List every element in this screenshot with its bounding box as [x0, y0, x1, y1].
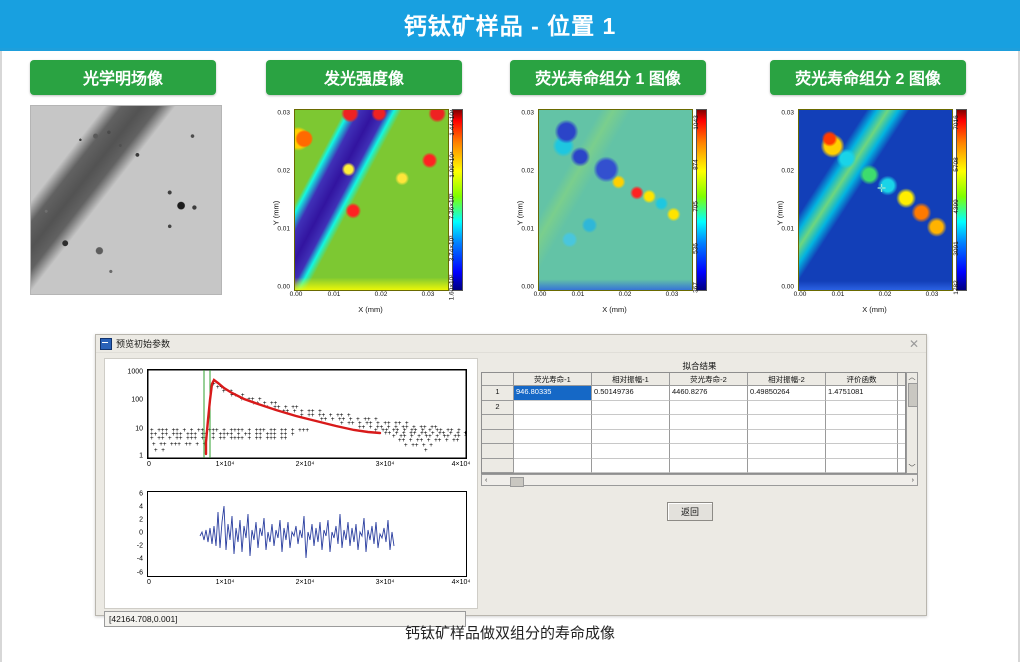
cell-cost-function[interactable]: 1.4751081	[826, 386, 898, 401]
decay-ytick-100: 100	[109, 397, 143, 404]
panel-label-intensity: 发光强度像	[266, 60, 462, 95]
preview-parameters-dialog: 预览初始参数 ✕ + +++ ++ + +	[95, 334, 927, 616]
cell-amplitude-2[interactable]	[748, 459, 826, 474]
cell-amplitude-1[interactable]	[592, 459, 670, 474]
column-header-extra[interactable]	[898, 373, 905, 386]
resid-ytick-m4: -4	[109, 556, 143, 563]
cell-lifetime-1[interactable]	[514, 444, 592, 459]
cell-lifetime-1[interactable]: 946.80335	[514, 386, 592, 401]
optical-brightfield-image	[30, 105, 222, 295]
decay-plot-svg: + +++ ++ + + ++ +++ + ++++ + +++ ++ ++ +…	[148, 370, 466, 458]
cell-amplitude-1[interactable]	[592, 430, 670, 445]
decay-ytick-1: 1	[109, 453, 143, 460]
lifetime2-x-ticks: 0.00 0.01 0.02 0.03	[798, 290, 951, 302]
figure-caption: 钙钛矿样品做双组分的寿命成像	[0, 622, 1020, 643]
fit-results-area: 拟合结果 荧光寿命-1 相对振幅-1 荧光寿命-2 相对振幅-2 评价函数 1 …	[481, 358, 918, 607]
resid-xtick-1e4: 1×10⁴	[216, 579, 235, 586]
row-index	[482, 430, 514, 445]
panel-label-lifetime-2: 荧光寿命组分 2 图像	[770, 60, 966, 95]
panel-emission-intensity: 发光强度像 Y (mm) 0.03 0.02 0.01 0.00 0.00 0.…	[266, 60, 462, 320]
lifetime2-map-box: Y (mm) 0.03 0.02 0.01 0.00 ✛ 0.00 0.01 0…	[770, 105, 966, 320]
lifetime2-x-axis-title: X (mm)	[798, 305, 951, 314]
resid-xtick-3e4: 3×10⁴	[376, 579, 395, 586]
resid-ytick-4: 4	[109, 504, 143, 511]
cell-extra[interactable]	[898, 415, 905, 430]
horizontal-scroll-thumb[interactable]	[510, 477, 524, 487]
cell-lifetime-1[interactable]	[514, 459, 592, 474]
vertical-scroll-thumb[interactable]	[908, 383, 918, 407]
cell-extra[interactable]	[898, 386, 905, 401]
panel-label-lifetime-1: 荧光寿命组分 1 图像	[510, 60, 706, 95]
row-index	[482, 459, 514, 474]
table-row[interactable]: 1 946.80335 0.50149736 4460.8276 0.49850…	[482, 386, 905, 401]
lifetime2-y-ticks: 0.03 0.02 0.01 0.00	[774, 109, 796, 289]
fit-results-title: 拟合结果	[481, 360, 918, 372]
resid-ytick-6: 6	[109, 491, 143, 498]
window-icon	[100, 338, 112, 350]
resid-ytick-0: 0	[109, 530, 143, 537]
decay-xtick-1e4: 1×10⁴	[216, 461, 235, 468]
resid-ytick-2: 2	[109, 517, 143, 524]
svg-text:+ +: + +	[154, 447, 165, 454]
resid-xtick-4e4: 4×10⁴	[452, 579, 471, 586]
table-row[interactable]: 2	[482, 401, 905, 416]
decay-plot: + +++ ++ + + ++ +++ + ++++ + +++ ++ ++ +…	[105, 363, 477, 483]
decay-ytick-1000: 1000	[109, 369, 143, 376]
svg-text:+: +	[424, 447, 428, 454]
image-panel-row: 光学明场像 发光强度像 Y (mm) 0.03 0.02 0.01 0.00 0…	[0, 60, 1020, 330]
page-title: 钙钛矿样品 - 位置 1	[404, 7, 617, 41]
scroll-right-icon[interactable]: ›	[912, 476, 914, 485]
table-row[interactable]	[482, 459, 905, 474]
optical-image-box	[30, 105, 216, 295]
fit-results-table[interactable]: 荧光寿命-1 相对振幅-1 荧光寿命-2 相对振幅-2 评价函数 1 946.8…	[481, 372, 906, 474]
cell-cost-function[interactable]	[826, 415, 898, 430]
cell-amplitude-2[interactable]: 0.49850264	[748, 386, 826, 401]
cell-lifetime-2[interactable]	[670, 401, 748, 416]
cell-amplitude-2[interactable]	[748, 415, 826, 430]
cell-amplitude-2[interactable]	[748, 401, 826, 416]
cell-amplitude-2[interactable]	[748, 430, 826, 445]
back-button[interactable]: 返回	[667, 502, 713, 521]
decay-ytick-10: 10	[109, 426, 143, 433]
cell-cost-function[interactable]	[826, 430, 898, 445]
column-header-amplitude-2[interactable]: 相对振幅-2	[748, 373, 826, 386]
cell-cost-function[interactable]	[826, 459, 898, 474]
scroll-left-icon[interactable]: ‹	[485, 476, 487, 485]
column-header-amplitude-1[interactable]: 相对振幅-1	[592, 373, 670, 386]
resid-ytick-m6: -6	[109, 570, 143, 577]
cell-amplitude-1[interactable]: 0.50149736	[592, 386, 670, 401]
close-icon[interactable]: ✕	[906, 338, 922, 350]
panel-optical-brightfield: 光学明场像	[30, 60, 216, 295]
svg-text:+ ++ + +: + ++ + +	[404, 442, 433, 449]
cell-lifetime-1[interactable]	[514, 401, 592, 416]
crosshair-marker-icon: ✛	[877, 184, 886, 195]
row-index: 2	[482, 401, 514, 416]
panel-label-optical: 光学明场像	[30, 60, 216, 95]
dialog-title-bar[interactable]: 预览初始参数 ✕	[96, 335, 926, 353]
panel-lifetime-component-2: 荧光寿命组分 2 图像 Y (mm) 0.03 0.02 0.01 0.00 ✛…	[770, 60, 966, 320]
column-header-lifetime-2[interactable]: 荧光寿命-2	[670, 373, 748, 386]
resid-xtick-2e4: 2×10⁴	[296, 579, 315, 586]
table-horizontal-scrollbar[interactable]: ‹ ›	[481, 474, 918, 486]
scroll-up-icon[interactable]: ︿	[909, 373, 916, 382]
decay-xtick-2e4: 2×10⁴	[296, 461, 315, 468]
intensity-y-ticks: 0.03 0.02 0.01 0.00	[270, 109, 292, 289]
lifetime1-x-ticks: 0.00 0.01 0.02 0.03	[538, 290, 691, 302]
cell-extra[interactable]	[898, 430, 905, 445]
fit-plots-card: + +++ ++ + + ++ +++ + ++++ + +++ ++ ++ +…	[104, 358, 478, 609]
table-header-row: 荧光寿命-1 相对振幅-1 荧光寿命-2 相对振幅-2 评价函数	[482, 373, 905, 386]
decay-plot-frame: + +++ ++ + + ++ +++ + ++++ + +++ ++ ++ +…	[147, 369, 467, 459]
lifetime2-colorbar-ticks: 7016 5708 4399 3091 1782	[920, 109, 956, 289]
table-row[interactable]	[482, 415, 905, 430]
cell-amplitude-1[interactable]	[592, 401, 670, 416]
cell-extra[interactable]	[898, 401, 905, 416]
title-underline	[0, 48, 1020, 51]
cell-amplitude-1[interactable]	[592, 415, 670, 430]
intensity-map-box: Y (mm) 0.03 0.02 0.01 0.00 0.00 0.01 0.0…	[266, 105, 462, 320]
cell-extra[interactable]	[898, 459, 905, 474]
row-index	[482, 415, 514, 430]
table-corner-cell	[482, 373, 514, 386]
table-vertical-scrollbar[interactable]: ︿ ﹀	[906, 372, 918, 474]
lifetime1-colorbar-ticks: 1043 874 705 536 367	[660, 109, 696, 289]
column-header-cost-function[interactable]: 评价函数	[826, 373, 898, 386]
table-row[interactable]	[482, 430, 905, 445]
dialog-body: + +++ ++ + + ++ +++ + ++++ + +++ ++ ++ +…	[96, 353, 926, 615]
dialog-title: 预览初始参数	[116, 337, 170, 350]
resid-ytick-m2: -2	[109, 543, 143, 550]
row-index	[482, 444, 514, 459]
residual-plot-svg	[148, 492, 466, 576]
residual-plot: 6 4 2 0 -2 -4 -6 0 1×10⁴ 2×10⁴ 3×10⁴ 4×1…	[105, 485, 477, 605]
lifetime1-y-ticks: 0.03 0.02 0.01 0.00	[514, 109, 536, 289]
cell-lifetime-1[interactable]	[514, 430, 592, 445]
intensity-x-ticks: 0.00 0.01 0.02 0.03	[294, 290, 447, 302]
resid-xtick-0: 0	[147, 579, 151, 586]
residual-plot-frame	[147, 491, 467, 577]
cell-lifetime-1[interactable]	[514, 415, 592, 430]
intensity-x-axis-title: X (mm)	[294, 305, 447, 314]
cell-cost-function[interactable]	[826, 444, 898, 459]
row-index: 1	[482, 386, 514, 401]
cell-amplitude-1[interactable]	[592, 444, 670, 459]
column-header-lifetime-1[interactable]: 荧光寿命-1	[514, 373, 592, 386]
decay-xtick-3e4: 3×10⁴	[376, 461, 395, 468]
panel-lifetime-component-1: 荧光寿命组分 1 图像 Y (mm) 0.03 0.02 0.01 0.00 0…	[510, 60, 706, 320]
intensity-colorbar-ticks: 1.44×10⁴ 1.09×10⁴ 7.36×10³ 3.74×10³ 1.60…	[416, 109, 452, 289]
cell-lifetime-2[interactable]: 4460.8276	[670, 386, 748, 401]
cell-amplitude-2[interactable]	[748, 444, 826, 459]
cell-lifetime-2[interactable]	[670, 444, 748, 459]
cell-cost-function[interactable]	[826, 401, 898, 416]
cell-lifetime-2[interactable]	[670, 459, 748, 474]
cell-lifetime-2[interactable]	[670, 415, 748, 430]
page-title-bar: 钙钛矿样品 - 位置 1	[0, 0, 1020, 48]
decay-xtick-0: 0	[147, 461, 151, 468]
scroll-down-icon[interactable]: ﹀	[909, 464, 916, 473]
cell-extra[interactable]	[898, 444, 905, 459]
table-row[interactable]	[482, 444, 905, 459]
cell-lifetime-2[interactable]	[670, 430, 748, 445]
lifetime1-x-axis-title: X (mm)	[538, 305, 691, 314]
decay-xtick-4e4: 4×10⁴	[452, 461, 471, 468]
lifetime1-map-box: Y (mm) 0.03 0.02 0.01 0.00 0.00 0.01 0.0…	[510, 105, 706, 320]
